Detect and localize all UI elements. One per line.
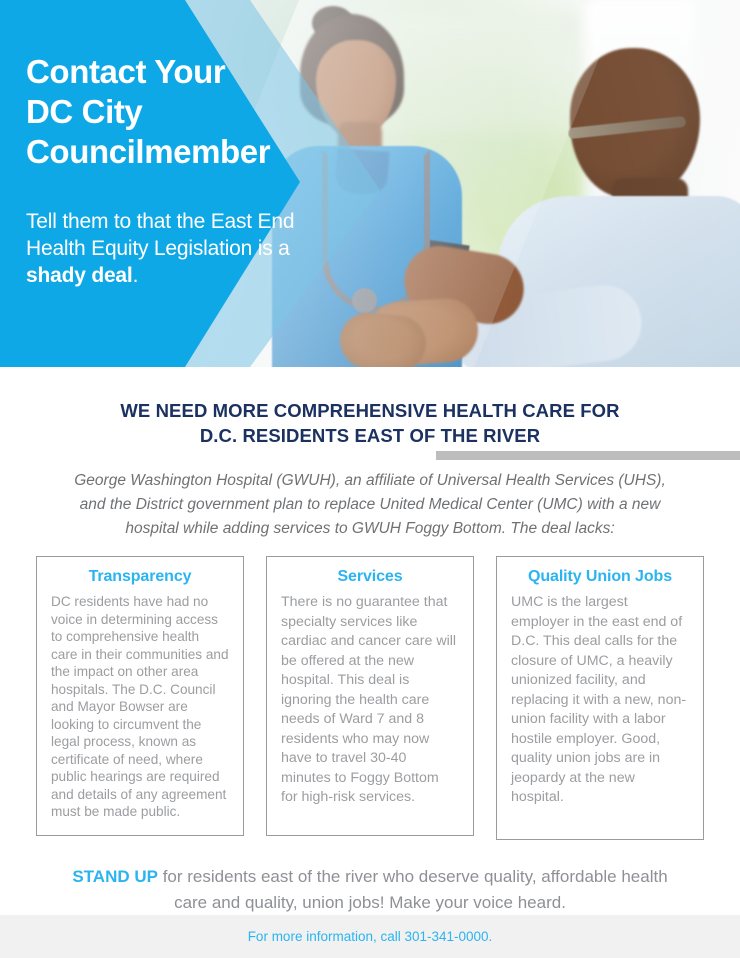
hero-title: Contact Your DC City Councilmember (26, 52, 326, 172)
hero-subtitle-prefix: Tell them to that the East End Health Eq… (26, 210, 294, 260)
issue-box-body: There is no guarantee that specialty ser… (281, 593, 459, 808)
issue-box-title: Services (281, 568, 459, 586)
gray-accent-rule (436, 451, 740, 460)
hero-subtitle-emphasis: shady deal (26, 264, 133, 287)
issue-box-title: Transparency (51, 568, 229, 586)
issue-box-title: Quality Union Jobs (511, 568, 689, 586)
main-content: WE NEED MORE COMPREHENSIVE HEALTH CARE F… (0, 367, 740, 916)
lede-paragraph: George Washington Hospital (GWUH), an af… (70, 469, 670, 541)
section-heading-line-2: D.C. RESIDENTS EAST OF THE RIVER (200, 425, 540, 446)
issue-box-services: Services There is no guarantee that spec… (266, 556, 474, 836)
section-heading: WE NEED MORE COMPREHENSIVE HEALTH CARE F… (70, 398, 670, 448)
issue-box-quality-union-jobs: Quality Union Jobs UMC is the largest em… (496, 556, 704, 840)
issue-boxes: Transparency DC residents have had no vo… (0, 556, 740, 840)
call-to-action-text: for residents east of the river who dese… (158, 867, 668, 912)
footer-contact-text: For more information, call 301-341-0000. (248, 929, 493, 944)
footer-bar: For more information, call 301-341-0000. (0, 915, 740, 958)
issue-box-body: UMC is the largest employer in the east … (511, 593, 689, 808)
issue-box-body: DC residents have had no voice in determ… (51, 593, 229, 821)
issue-box-transparency: Transparency DC residents have had no vo… (36, 556, 244, 836)
section-heading-line-1: WE NEED MORE COMPREHENSIVE HEALTH CARE F… (120, 400, 619, 421)
hero-title-line-3: Councilmember (26, 133, 270, 170)
hero-banner: Contact Your DC City Councilmember Tell … (0, 0, 740, 367)
flyer-page: Contact Your DC City Councilmember Tell … (0, 0, 740, 958)
hero-text-block: Contact Your DC City Councilmember Tell … (26, 52, 326, 289)
hero-title-line-2: DC City (26, 93, 142, 130)
hero-subtitle-suffix: . (133, 264, 139, 287)
hero-subtitle: Tell them to that the East End Health Eq… (26, 208, 326, 289)
call-to-action: STAND UP for residents east of the river… (65, 864, 675, 916)
call-to-action-highlight: STAND UP (72, 867, 158, 886)
hero-title-line-1: Contact Your (26, 53, 225, 90)
